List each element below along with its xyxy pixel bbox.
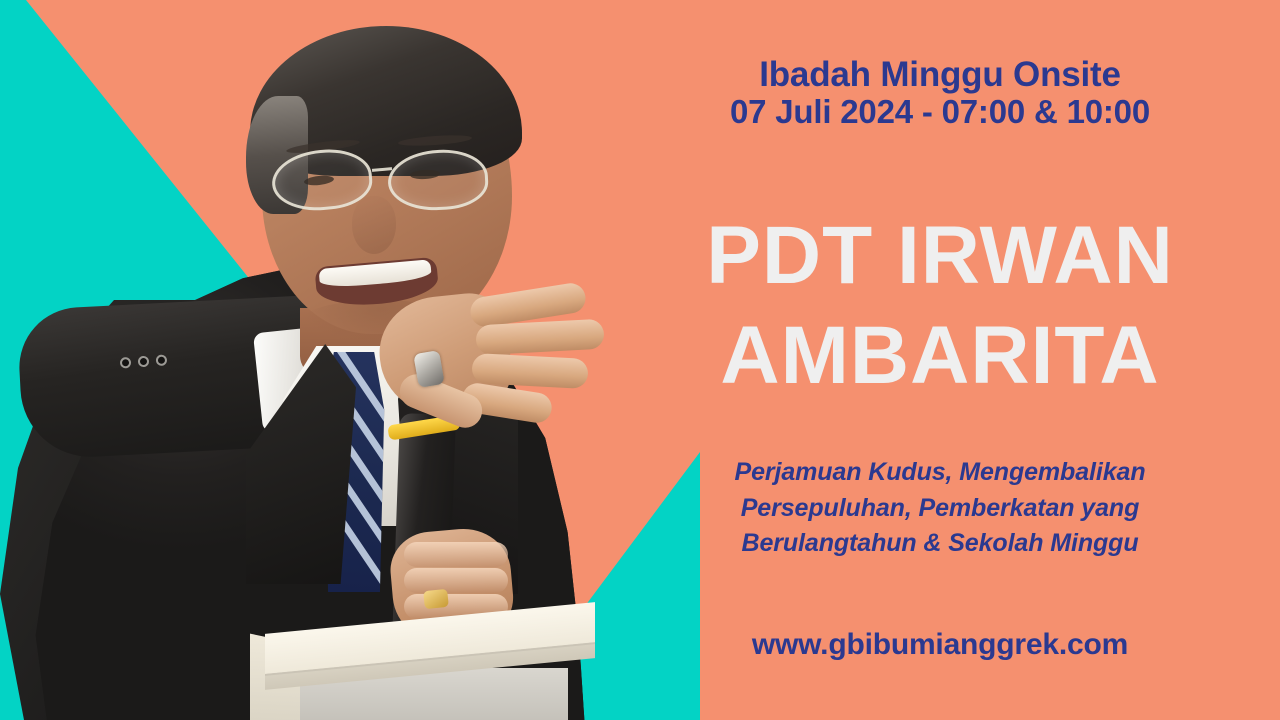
event-datetime: 07 Juli 2024 - 07:00 & 10:00 [600, 93, 1280, 132]
eyeglasses [256, 146, 518, 218]
glasses-bridge [372, 167, 392, 172]
speaker-name-line-2: AMBARITA [600, 306, 1280, 406]
service-description: Perjamuan Kudus, Mengembalikan Persepulu… [600, 455, 1280, 562]
lens-left [270, 146, 375, 214]
silver-ring [413, 350, 445, 388]
event-title: Ibadah Minggu Onsite [600, 56, 1280, 93]
finger-middle [475, 319, 604, 356]
event-header: Ibadah Minggu Onsite 07 Juli 2024 - 07:0… [600, 56, 1280, 132]
speaker-name: PDT IRWAN AMBARITA [600, 206, 1280, 406]
speaker-photo [0, 0, 700, 720]
gold-ring [423, 589, 449, 609]
footer: www.gbibumianggrek.com [600, 628, 1280, 662]
poster-text-column: Ibadah Minggu Onsite 07 Juli 2024 - 07:0… [600, 0, 1280, 720]
church-service-poster: Ibadah Minggu Onsite 07 Juli 2024 - 07:0… [0, 0, 1280, 720]
website-url[interactable]: www.gbibumianggrek.com [600, 628, 1280, 662]
finger-ring [471, 353, 588, 389]
speaker-name-line-1: PDT IRWAN [600, 206, 1280, 306]
description-line-1: Perjamuan Kudus, Mengembalikan [600, 455, 1280, 491]
lens-right [386, 147, 489, 212]
description-line-2: Persepuluhan, Pemberkatan yang [600, 491, 1280, 527]
description-line-3: Berulangtahun & Sekolah Minggu [600, 526, 1280, 562]
